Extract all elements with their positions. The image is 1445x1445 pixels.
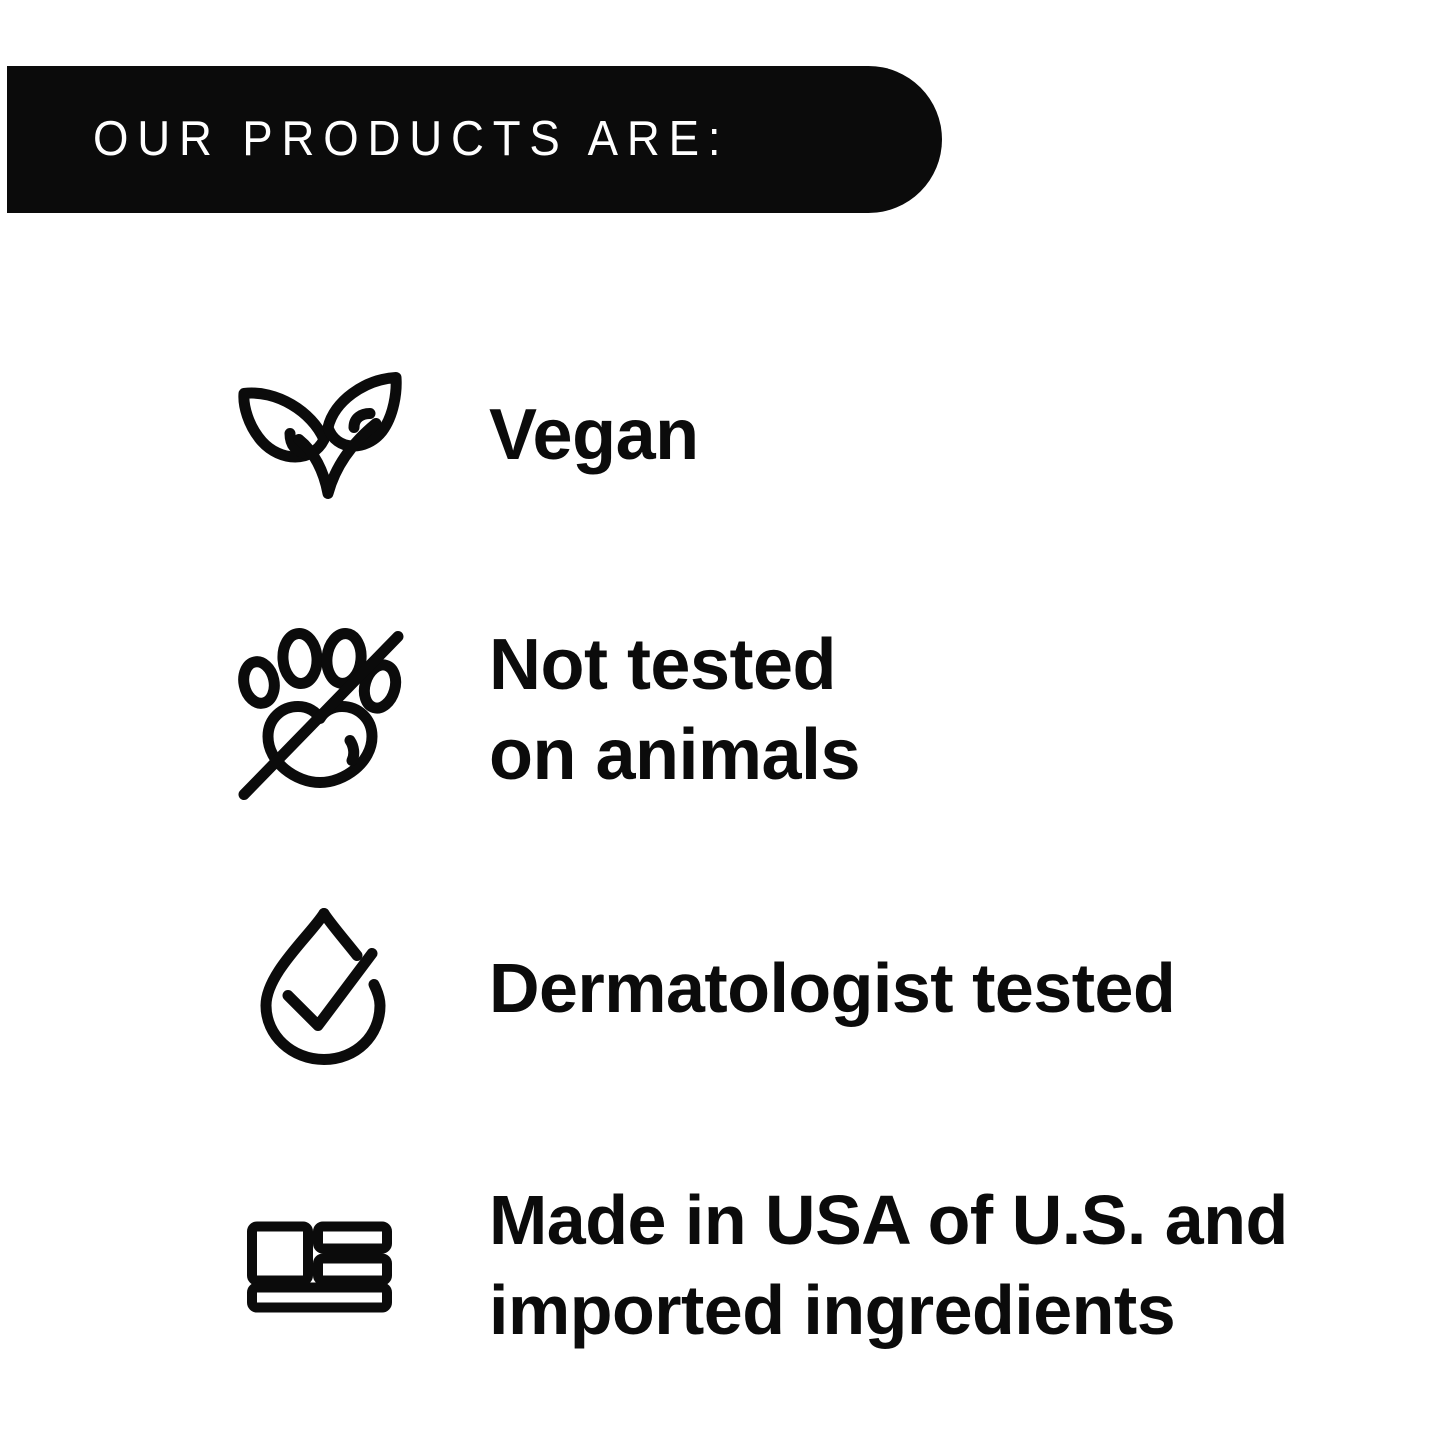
- droplet-check-icon: [244, 905, 409, 1070]
- product-claims-panel: OUR PRODUCTS ARE: Vegan: [0, 0, 1445, 1445]
- feature-label-made-in-usa: Made in USA of U.S. and imported ingredi…: [489, 1175, 1288, 1355]
- usa-flag-icon: [244, 1218, 394, 1313]
- list-item: Not tested on animals: [0, 570, 1445, 850]
- feature-label-not-tested-on-animals: Not tested on animals: [489, 620, 860, 800]
- feature-label-vegan: Vegan: [489, 390, 699, 480]
- feature-label-dermatologist-tested: Dermatologist tested: [489, 943, 1175, 1033]
- list-item: Dermatologist tested: [0, 850, 1445, 1125]
- header-banner: OUR PRODUCTS ARE:: [7, 66, 942, 213]
- page-title: OUR PRODUCTS ARE:: [93, 115, 729, 164]
- list-item: Vegan: [0, 300, 1445, 570]
- crossed-out-paw-icon: [240, 628, 405, 793]
- sprout-leaves-icon: [236, 353, 401, 518]
- feature-list: Vegan: [0, 300, 1445, 1405]
- list-item: Made in USA of U.S. and imported ingredi…: [0, 1125, 1445, 1405]
